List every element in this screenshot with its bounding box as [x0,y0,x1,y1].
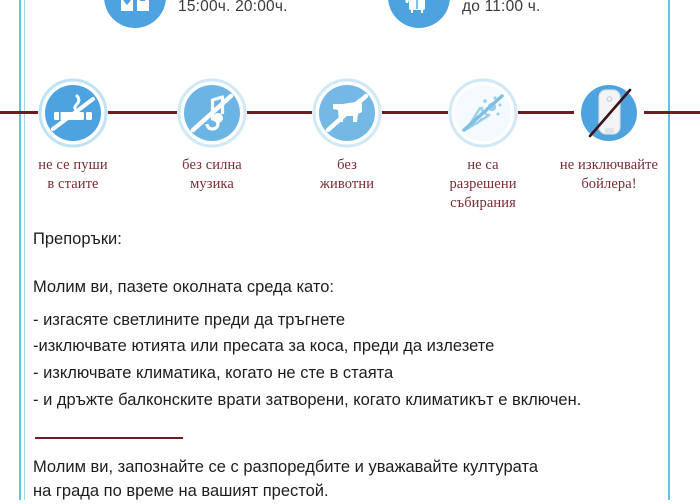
rule-label-line: разрешени [419,175,547,194]
footer-line-1: Молим ви, запознайте се с разпоредбите и… [33,456,663,480]
rule-no-pets-label: без животни [283,156,411,194]
footer-line-2: на града по време на вашият престой. [33,480,663,504]
rule-no-smoking: не се пуши в стаите [9,74,137,194]
environment-list: - изгасяте светлините преди да тръгнете … [33,307,663,414]
rule-no-smoking-label: не се пуши в стаите [9,156,137,194]
check-in-item: Настаняване: 15:00ч. 20:00ч. [104,0,288,28]
no-pets-icon [312,78,382,148]
check-in-location-building-icon [104,0,166,28]
rule-label-line: без [283,156,411,175]
rule-boiler-label: не изключвайте бойлера! [545,156,673,194]
check-out-item: Освобождаване: до 11:00 ч. [388,0,587,28]
no-parties-icon [448,78,518,148]
check-in-time: 15:00ч. 20:00ч. [178,0,288,16]
no-loud-music-icon [177,78,247,148]
rule-no-loud-music-label: без силна музика [148,156,276,194]
environment-intro: Молим ви, пазете околната среда като: [33,276,663,298]
rule-no-pets: без животни [283,74,411,194]
check-out-luggage-plane-icon [388,0,450,28]
house-rules-row: не се пуши в стаите без силна [0,74,700,224]
rule-label-line: не са [419,156,547,175]
rule-label-line: не се пуши [9,156,137,175]
rule-label-line: бойлера! [545,175,673,194]
list-item: - изключвате климатика, когато не сте в … [33,360,663,387]
rule-label-line: събирания [419,194,547,213]
poster-page: Настаняване: 15:00ч. 20:00ч. Освобождава… [0,0,700,500]
rule-label-line: в стаите [9,175,137,194]
rule-no-parties-label: не са разрешени събирания [419,156,547,213]
rule-label-line: не изключвайте [545,156,673,175]
list-item: - и дръжте балконските врати затворени, … [33,387,663,414]
rule-no-parties: не са разрешени събирания [419,74,547,213]
rule-label-line: музика [148,175,276,194]
rule-do-not-switch-off-boiler: не изключвайте бойлера! [545,74,673,194]
rule-label-line: без силна [148,156,276,175]
section-divider [35,437,183,439]
do-not-switch-off-boiler-icon [574,78,644,148]
rule-no-loud-music: без силна музика [148,74,276,194]
checkin-checkout-strip: Настаняване: 15:00ч. 20:00ч. Освобождава… [0,0,700,52]
no-smoking-icon [38,78,108,148]
recommendations-heading: Препоръки: [33,228,663,250]
recommendations-section: Препоръки: Молим ви, пазете околната сре… [33,228,663,504]
list-item: -изключвате ютията или пресата за коса, … [33,333,663,360]
list-item: - изгасяте светлините преди да тръгнете [33,307,663,334]
rule-label-line: животни [283,175,411,194]
check-out-time: до 11:00 ч. [462,0,587,16]
